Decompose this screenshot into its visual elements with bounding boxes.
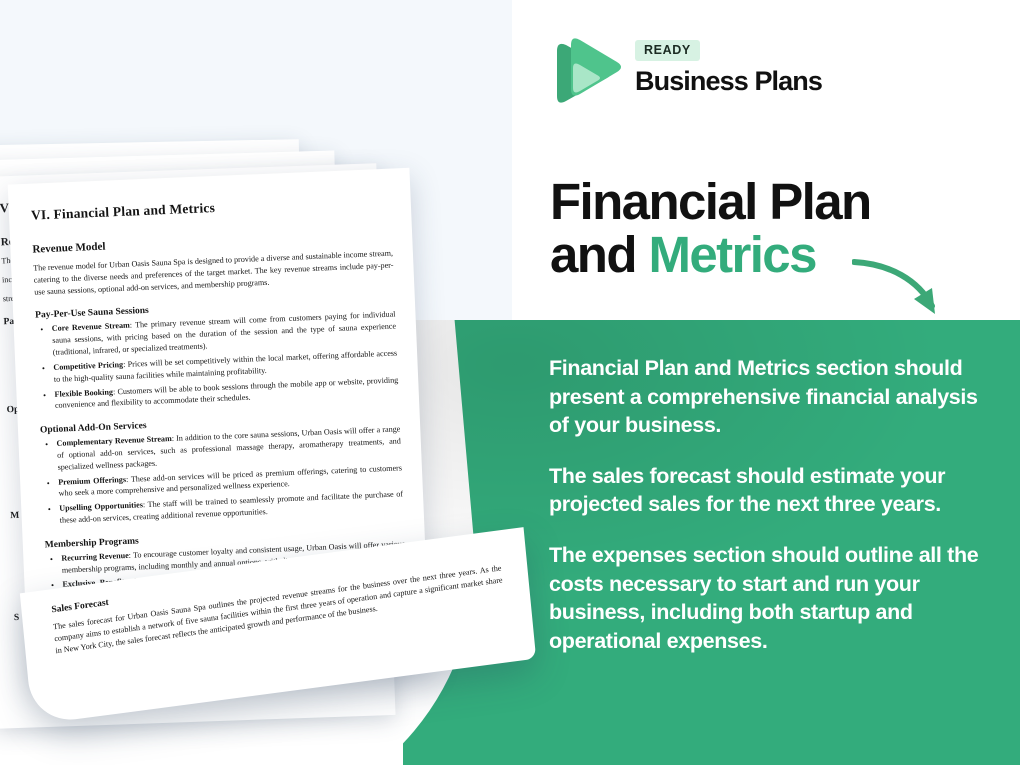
brand-text-block: READY Business Plans [635,40,822,97]
panel-description: Financial Plan and Metrics section shoul… [549,354,1001,655]
bullet-term: Core Revenue Stream [52,321,130,333]
bullet-term: Premium Offerings [58,475,126,487]
ready-badge: READY [635,40,700,61]
document-stack: VI. Re The inc stre Pay Op M S VI. Finan… [0,0,520,765]
bullet-term: Competitive Pricing [53,360,123,372]
play-triangle-logo-icon [549,35,621,117]
page-title-plain: and [550,226,648,283]
curved-down-arrow-icon [852,252,972,334]
page-title-line-1: Financial Plan [550,176,980,229]
section-paragraph-revenue-model: The revenue model for Urban Oasis Sauna … [33,248,394,298]
slide-canvas: VI. Re The inc stre Pay Op M S VI. Finan… [0,0,1020,765]
panel-paragraph-2: The sales forecast should estimate your … [549,462,1001,519]
document-title: VI. Financial Plan and Metrics [31,193,391,224]
bullet-list-optional-add-on: Complementary Revenue Stream: In additio… [56,424,403,527]
panel-paragraph-3: The expenses section should outline all … [549,541,1001,655]
bullet-list-pay-per-use: Core Revenue Stream: The primary revenue… [52,309,399,412]
brand-logo[interactable]: READY Business Plans [549,33,889,121]
bullet-term: Flexible Booking [54,387,113,398]
page-title-accent: Metrics [648,226,815,283]
bullet-term: Upselling Opportunities [59,500,143,512]
panel-paragraph-1: Financial Plan and Metrics section shoul… [549,354,1001,440]
bullet-term: Recurring Revenue [61,551,129,563]
brand-name: Business Plans [635,66,822,97]
